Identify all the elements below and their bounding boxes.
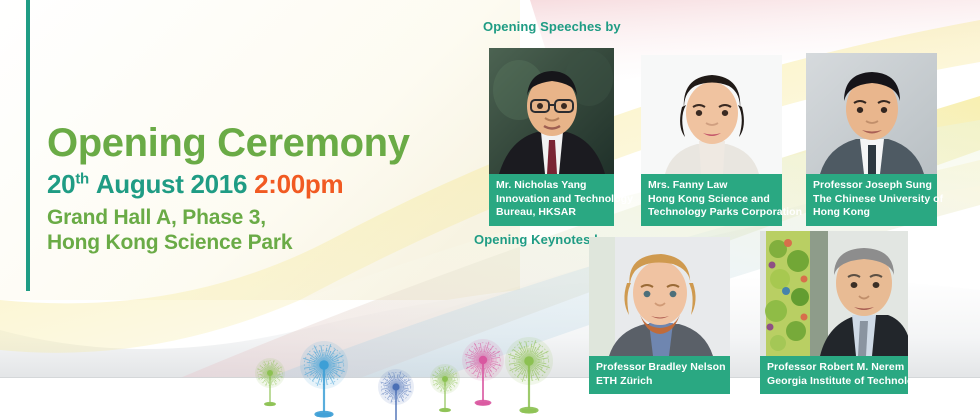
speaker-affiliation-line2: Technology Parks Corporation	[648, 206, 775, 220]
event-venue: Grand Hall A, Phase 3, Hong Kong Science…	[47, 206, 467, 255]
speaker-name: Mrs. Fanny Law	[648, 179, 775, 193]
speaker-affiliation-line1: Georgia Institute of Technology	[767, 375, 901, 389]
speaker-name: Professor Bradley Nelson	[596, 361, 723, 375]
speaker-caption: Professor Bradley Nelson ETH Zürich	[589, 356, 730, 394]
speaker-card-robert-nerem: Professor Robert M. Nerem Georgia Instit…	[760, 231, 908, 394]
event-date-ordinal: th	[75, 171, 89, 188]
portrait-nicholas-yang	[489, 48, 614, 174]
speaker-name: Professor Robert M. Nerem	[767, 361, 901, 375]
speaker-affiliation-line1: Hong Kong Science and	[648, 193, 775, 207]
dandelion-pink-medium-icon	[462, 339, 504, 407]
event-time: 2:00pm	[254, 169, 343, 199]
page-title: Opening Ceremony	[47, 122, 467, 164]
speaker-caption: Mrs. Fanny Law Hong Kong Science and Tec…	[641, 174, 782, 226]
opening-speeches-heading: Opening Speeches by	[483, 19, 621, 34]
portrait-joseph-sung	[806, 53, 937, 174]
speaker-card-fanny-law: Mrs. Fanny Law Hong Kong Science and Tec…	[641, 55, 782, 226]
speaker-card-joseph-sung: Professor Joseph Sung The Chinese Univer…	[806, 53, 937, 226]
speaker-affiliation-line2: Bureau, HKSAR	[496, 206, 607, 220]
event-venue-line1: Grand Hall A, Phase 3,	[47, 206, 266, 229]
dandelion-green-small-icon	[255, 358, 285, 407]
portrait-bradley-nelson	[589, 237, 730, 356]
event-info: Opening Ceremony 20th August 2016 2:00pm…	[47, 122, 467, 255]
speaker-affiliation-line1: Innovation and Technology	[496, 193, 607, 207]
portrait-robert-nerem	[760, 231, 908, 356]
event-date-day: 20	[47, 169, 75, 199]
dandelion-lime-small-icon	[430, 364, 460, 413]
event-datetime: 20th August 2016 2:00pm	[47, 170, 467, 199]
event-venue-line2: Hong Kong Science Park	[47, 231, 292, 254]
dandelion-indigo-small-icon	[378, 369, 414, 420]
speaker-affiliation-line1: ETH Zürich	[596, 375, 723, 389]
speaker-name: Mr. Nicholas Yang	[496, 179, 607, 193]
event-date-rest: August 2016	[96, 169, 247, 199]
event-banner: Opening Ceremony 20th August 2016 2:00pm…	[0, 0, 980, 420]
dandelion-green-medium-icon	[505, 337, 553, 415]
portrait-fanny-law	[641, 55, 782, 174]
speaker-affiliation-line1: The Chinese University of	[813, 193, 930, 207]
speaker-caption: Professor Joseph Sung The Chinese Univer…	[806, 174, 937, 226]
speaker-card-bradley-nelson: Professor Bradley Nelson ETH Zürich	[589, 237, 730, 394]
speaker-caption: Mr. Nicholas Yang Innovation and Technol…	[489, 174, 614, 226]
speaker-name: Professor Joseph Sung	[813, 179, 930, 193]
speaker-card-nicholas-yang: Mr. Nicholas Yang Innovation and Technol…	[489, 48, 614, 226]
speaker-caption: Professor Robert M. Nerem Georgia Instit…	[760, 356, 908, 394]
accent-rule	[26, 0, 30, 291]
dandelion-blue-large-icon	[300, 341, 348, 419]
speaker-affiliation-line2: Hong Kong	[813, 206, 930, 220]
